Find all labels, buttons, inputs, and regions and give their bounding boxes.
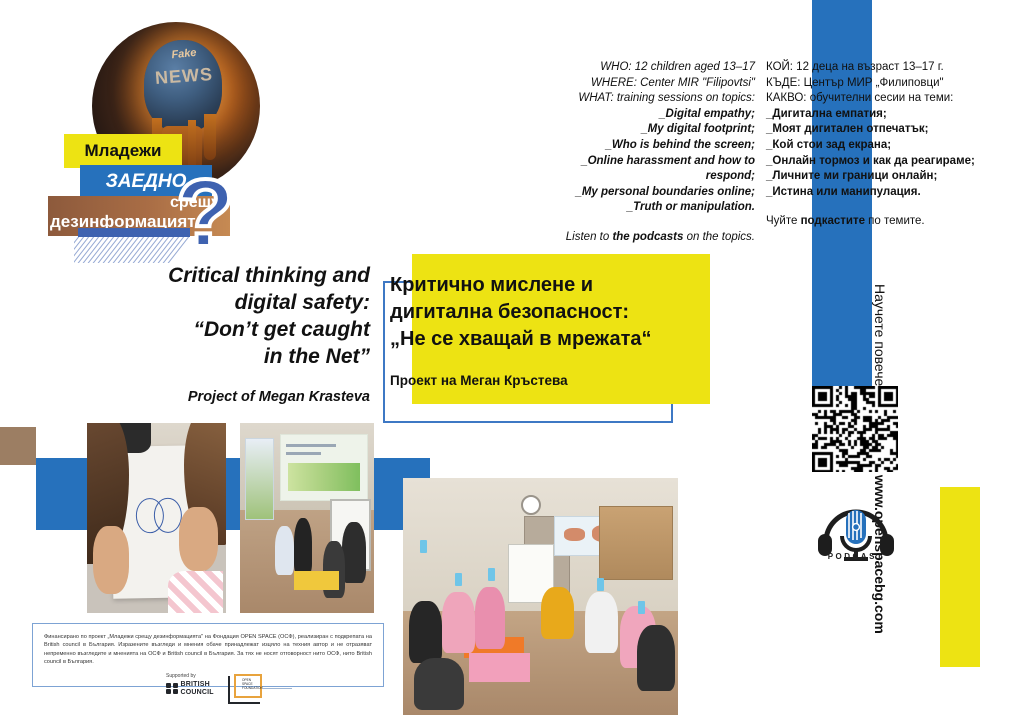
info-bg-listen: Чуйте подкастите по темите. <box>766 214 996 230</box>
bulb-drip-3 <box>204 114 216 160</box>
headline-en-line-1: Critical thinking and <box>120 262 370 289</box>
headline-en-project: Project of Megan Krasteva <box>120 384 370 411</box>
info-bg-topic-5: _Истина или манипулация. <box>766 186 921 198</box>
photo3-facilitator <box>541 587 574 639</box>
photo3-blue-card-3 <box>488 568 495 581</box>
info-bg-topic-1: _Моят дигитален отпечатък; <box>766 123 928 135</box>
info-en-topic-4: _My personal boundaries online; <box>575 186 755 198</box>
headline-en-line-2: digital safety: <box>120 289 370 316</box>
photo3-participant-4 <box>585 592 618 654</box>
info-en-who: WHO: 12 children aged 13–17 <box>530 60 755 76</box>
info-block-english: WHO: 12 children aged 13–17 WHERE: Cente… <box>530 60 755 246</box>
photo2-projection-screen <box>280 434 368 501</box>
photo1-venn-right <box>154 497 182 533</box>
british-council-line-1: BRITISH <box>181 681 214 689</box>
photo2-yellow-table <box>294 571 340 590</box>
photo-flipchart-workshop <box>87 423 226 613</box>
yellow-url-block <box>940 487 980 667</box>
supported-by-label: Supported by <box>166 673 196 679</box>
headline-en-line-3: “Don’t get caught <box>120 316 370 343</box>
headline-bg-line-3: „Не се хващай в мрежата“ <box>390 326 702 353</box>
photo2-participant-2 <box>294 518 313 575</box>
photo3-cardboard-boxes <box>599 506 673 579</box>
info-en-what: WHAT: training sessions on topics: <box>530 91 755 107</box>
listen-en-bold: the podcasts <box>612 231 683 243</box>
info-bg-topic-4: _Личните ми граници онлайн; <box>766 170 937 182</box>
headline-bg-line-1: Критично мислене и <box>390 272 702 299</box>
info-bg-who: КОЙ: 12 деца на възраст 13–17 г. <box>766 60 996 76</box>
photo3-pink-table <box>469 653 530 681</box>
listen-bg-bold: подкастите <box>801 215 865 227</box>
photo3-participant-1 <box>409 601 442 663</box>
listen-bg-pre: Чуйте <box>766 215 801 227</box>
logo-line-1: Младежи <box>64 134 182 168</box>
qr-code[interactable] <box>812 386 898 472</box>
info-bg-topic-0: _Дигитална емпатия; <box>766 108 887 120</box>
info-en-topic-2: _Who is behind the screen; <box>605 139 755 151</box>
british-council-logo: BRITISH COUNCIL <box>166 681 214 696</box>
photo1-arm-left <box>93 526 129 594</box>
photo1-arm-right <box>179 507 218 572</box>
info-en-topic-1: _My digital footprint; <box>641 123 755 135</box>
photo2-participant-3 <box>342 522 366 583</box>
listen-bg-post: по темите. <box>865 215 925 227</box>
british-council-dots-icon <box>166 683 178 695</box>
project-logo: Fake NEWS Младежи ЗАЕДНО срещу дезинформ… <box>48 22 262 236</box>
logo-bar-yellow: Младежи <box>64 134 182 168</box>
photo3-blue-card-4 <box>597 578 604 591</box>
headline-bulgarian: Критично мислене и дигитална безопасност… <box>390 272 702 394</box>
listen-en-post: on the topics. <box>683 231 755 243</box>
info-bg-where: КЪДЕ: Център МИР „Филиповци" <box>766 76 996 92</box>
photo2-wall-poster <box>245 438 274 520</box>
info-block-bulgarian: КОЙ: 12 деца на възраст 13–17 г. КЪДЕ: Ц… <box>766 60 996 230</box>
photo3-participant-3 <box>475 587 505 649</box>
open-space-logo: OPEN SPACE FOUNDATION <box>228 676 260 704</box>
info-en-topic-5: _Truth or manipulation. <box>627 201 755 213</box>
hatch-decoration <box>74 237 194 263</box>
photo3-clock <box>521 495 541 515</box>
photo3-participant-6 <box>637 625 676 691</box>
photo-classroom-presentation <box>240 423 374 613</box>
photo1-dress <box>168 571 224 613</box>
photo3-blue-card-1 <box>420 540 427 553</box>
podcast-label: PODCAST <box>810 552 902 561</box>
photo3-participant-2 <box>442 592 475 654</box>
info-en-where: WHERE: Center MIR "Filipovtsi" <box>530 76 755 92</box>
photo-group-circle-session <box>403 478 678 715</box>
photo3-blue-card-5 <box>638 601 645 614</box>
listen-en-pre: Listen to <box>566 231 613 243</box>
info-en-topic-0: _Digital empathy; <box>659 108 755 120</box>
photo3-blue-card-2 <box>455 573 462 586</box>
brown-corner-tab <box>0 427 36 465</box>
info-bg-topic-3: _Онлайн тормоз и как да реагираме; <box>766 155 975 167</box>
info-en-listen: Listen to the podcasts on the topics. <box>530 230 755 246</box>
photo2-participant-1 <box>275 526 294 575</box>
disclaimer-box: Финансирано по проект „Младежи срещу дез… <box>32 623 384 687</box>
headline-bg-line-2: дигитална безопасност: <box>390 299 702 326</box>
open-space-wordmark: OPEN SPACE FOUNDATION <box>242 678 263 690</box>
headline-en-line-4: in the Net” <box>120 343 370 370</box>
info-en-topic-3: _Online harassment and how to respond; <box>581 155 755 183</box>
disclaimer-text: Финансирано по проект „Младежи срещу дез… <box>33 624 383 667</box>
headline-english: Critical thinking and digital safety: “D… <box>120 262 370 411</box>
photo3-participant-7 <box>414 658 464 710</box>
info-bg-what: КАКВО: обучителни сесии на теми: <box>766 91 996 107</box>
british-council-wordmark: BRITISH COUNCIL <box>181 681 214 696</box>
open-space-line-3: FOUNDATION <box>242 686 263 690</box>
poster-canvas: Fake NEWS Младежи ЗАЕДНО срещу дезинформ… <box>0 0 1024 717</box>
british-council-line-2: COUNCIL <box>181 689 214 697</box>
disclaimer-divider-line <box>262 688 292 689</box>
info-bg-topic-2: _Кой стои зад екрана; <box>766 139 891 151</box>
logo-underline-bar <box>78 228 190 237</box>
headline-bg-project: Проект на Меган Кръстева <box>390 367 702 394</box>
